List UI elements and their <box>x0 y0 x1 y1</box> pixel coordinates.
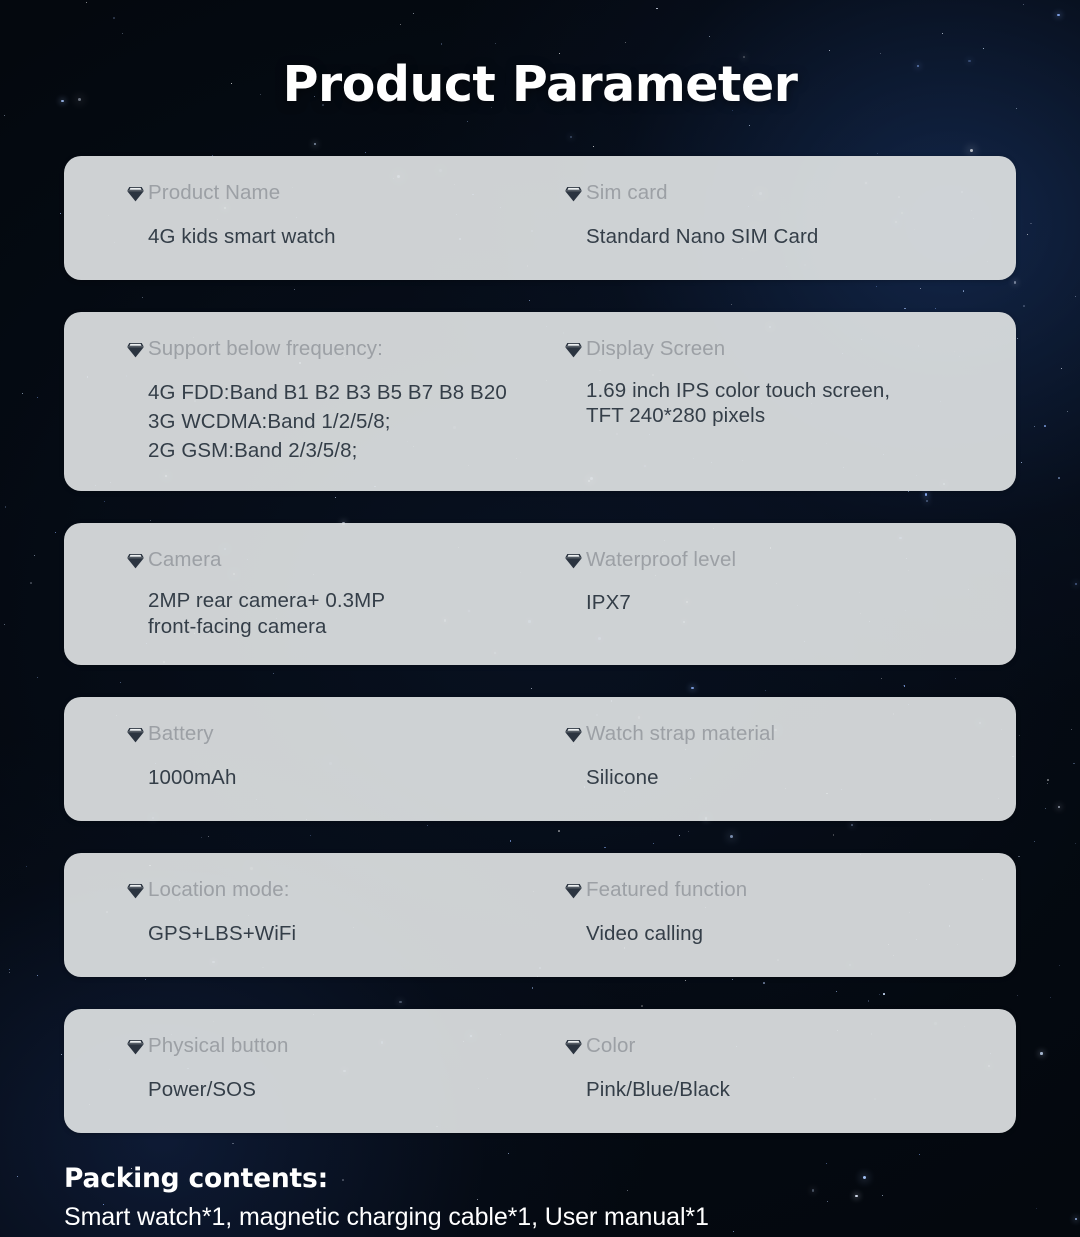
packing-contents-text: Smart watch*1, magnetic charging cable*1… <box>64 1201 1016 1234</box>
spec-value: GPS+LBS+WiFi <box>148 919 522 948</box>
gem-icon <box>564 186 583 202</box>
spec-card: Location mode:GPS+LBS+WiFiFeatured funct… <box>64 853 1016 977</box>
spec-value: 1.69 inch IPS color touch screen, TFT 24… <box>586 378 998 429</box>
spec-value: 4G kids smart watch <box>148 222 522 251</box>
spec-card: Camera2MP rear camera+ 0.3MP front-facin… <box>64 523 1016 665</box>
spec-cell-left: Location mode:GPS+LBS+WiFi <box>64 877 540 951</box>
spec-label: Camera <box>148 547 522 573</box>
gem-icon <box>126 727 145 743</box>
spec-cell-right: Featured functionVideo calling <box>540 877 1016 951</box>
spec-label: Physical button <box>148 1033 522 1059</box>
gem-icon <box>564 727 583 743</box>
spec-value: Standard Nano SIM Card <box>586 222 998 251</box>
spec-card-list: Product Name4G kids smart watchSim cardS… <box>64 156 1016 1133</box>
spec-cell-left: Product Name4G kids smart watch <box>64 180 540 254</box>
spec-card: Battery1000mAhWatch strap materialSilico… <box>64 697 1016 821</box>
gem-icon <box>564 883 583 899</box>
spec-label: Watch strap material <box>586 721 998 747</box>
spec-value: 2MP rear camera+ 0.3MP front-facing came… <box>148 588 522 639</box>
spec-cell-left: Physical buttonPower/SOS <box>64 1033 540 1107</box>
spec-cell-right: Display Screen1.69 inch IPS color touch … <box>540 336 1016 465</box>
spec-value: Pink/Blue/Black <box>586 1075 998 1104</box>
spec-label: Product Name <box>148 180 522 206</box>
gem-icon <box>126 553 145 569</box>
spec-label: Location mode: <box>148 877 522 903</box>
gem-icon <box>126 883 145 899</box>
spec-cell-right: Sim cardStandard Nano SIM Card <box>540 180 1016 254</box>
gem-icon <box>126 186 145 202</box>
spec-label: Sim card <box>586 180 998 206</box>
spec-value: IPX7 <box>586 588 998 617</box>
spec-label: Battery <box>148 721 522 747</box>
page-title: Product Parameter <box>64 0 1016 112</box>
packing-contents-section: Packing contents: Smart watch*1, magneti… <box>64 1163 1016 1233</box>
gem-icon <box>564 342 583 358</box>
spec-value: Video calling <box>586 919 998 948</box>
spec-label: Support below frequency: <box>148 336 522 362</box>
spec-label: Featured function <box>586 877 998 903</box>
spec-cell-right: ColorPink/Blue/Black <box>540 1033 1016 1107</box>
spec-value: 4G FDD:Band B1 B2 B3 B5 B7 B8 B20 3G WCD… <box>148 378 522 465</box>
spec-value: Power/SOS <box>148 1075 522 1104</box>
spec-card: Physical buttonPower/SOSColorPink/Blue/B… <box>64 1009 1016 1133</box>
gem-icon <box>126 1039 145 1055</box>
spec-card: Support below frequency:4G FDD:Band B1 B… <box>64 312 1016 491</box>
gem-icon <box>126 342 145 358</box>
spec-cell-left: Battery1000mAh <box>64 721 540 795</box>
packing-contents-title: Packing contents: <box>64 1163 1016 1195</box>
spec-cell-right: Waterproof levelIPX7 <box>540 547 1016 639</box>
gem-icon <box>564 553 583 569</box>
spec-value: 1000mAh <box>148 763 522 792</box>
product-parameter-page: Product Parameter Product Name4G kids sm… <box>0 0 1080 1237</box>
gem-icon <box>564 1039 583 1055</box>
spec-label: Color <box>586 1033 998 1059</box>
spec-value: Silicone <box>586 763 998 792</box>
spec-cell-right: Watch strap materialSilicone <box>540 721 1016 795</box>
spec-card: Product Name4G kids smart watchSim cardS… <box>64 156 1016 280</box>
spec-cell-left: Camera2MP rear camera+ 0.3MP front-facin… <box>64 547 540 639</box>
spec-cell-left: Support below frequency:4G FDD:Band B1 B… <box>64 336 540 465</box>
spec-label: Waterproof level <box>586 547 998 573</box>
spec-label: Display Screen <box>586 336 998 362</box>
